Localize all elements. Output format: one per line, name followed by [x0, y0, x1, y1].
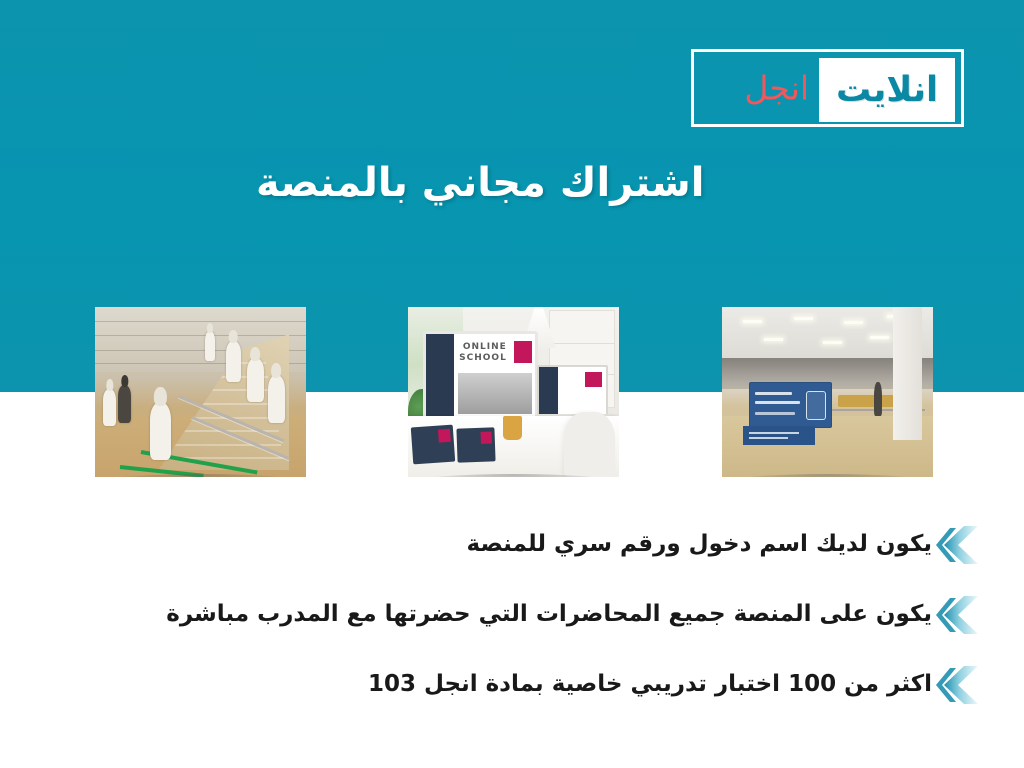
university-sign: [749, 382, 831, 428]
feature-list: يكون لديك اسم دخول ورقم سري للمنصة ي: [0, 510, 1024, 720]
chevron-left-icon: [934, 524, 978, 566]
photo-strip: ONLINE SCHOOL: [0, 307, 1024, 487]
list-item-label: يكون على المنصة جميع المحاضرات التي حضرت…: [166, 600, 932, 630]
photo-artwork: [722, 307, 933, 477]
list-item: يكون لديك اسم دخول ورقم سري للمنصة: [0, 510, 1024, 580]
campus-hallway-staircase-photo: [95, 307, 306, 477]
list-item: يكون على المنصة جميع المحاضرات التي حضرت…: [0, 580, 1024, 650]
king-saud-university-lobby-photo: [722, 307, 933, 477]
list-item-label: اكثر من 100 اختبار تدريبي خاصية بمادة ان…: [368, 670, 932, 700]
online-school-desk-photo: ONLINE SCHOOL: [408, 307, 619, 477]
page-title: اشتراك مجاني بالمنصة: [256, 158, 956, 208]
photo-artwork: [95, 307, 306, 477]
list-item-label: يكون لديك اسم دخول ورقم سري للمنصة: [467, 530, 932, 560]
chevron-left-icon: [934, 664, 978, 706]
enlight-logo[interactable]: انجل انلايت: [691, 49, 964, 127]
logo-plate: انلايت: [819, 58, 955, 122]
monitor-title-line2: SCHOOL: [459, 353, 507, 363]
list-item: اكثر من 100 اختبار تدريبي خاصية بمادة ان…: [0, 650, 1024, 720]
logo-main-word: انلايت: [836, 73, 938, 108]
monitor-title-line1: ONLINE: [463, 342, 507, 352]
photo-artwork: ONLINE SCHOOL: [408, 307, 619, 477]
chevron-left-icon: [934, 594, 978, 636]
slide-root: انجل انلايت اشتراك مجاني بالمنصة: [0, 0, 1024, 768]
logo-accent-word: انجل: [744, 72, 809, 105]
